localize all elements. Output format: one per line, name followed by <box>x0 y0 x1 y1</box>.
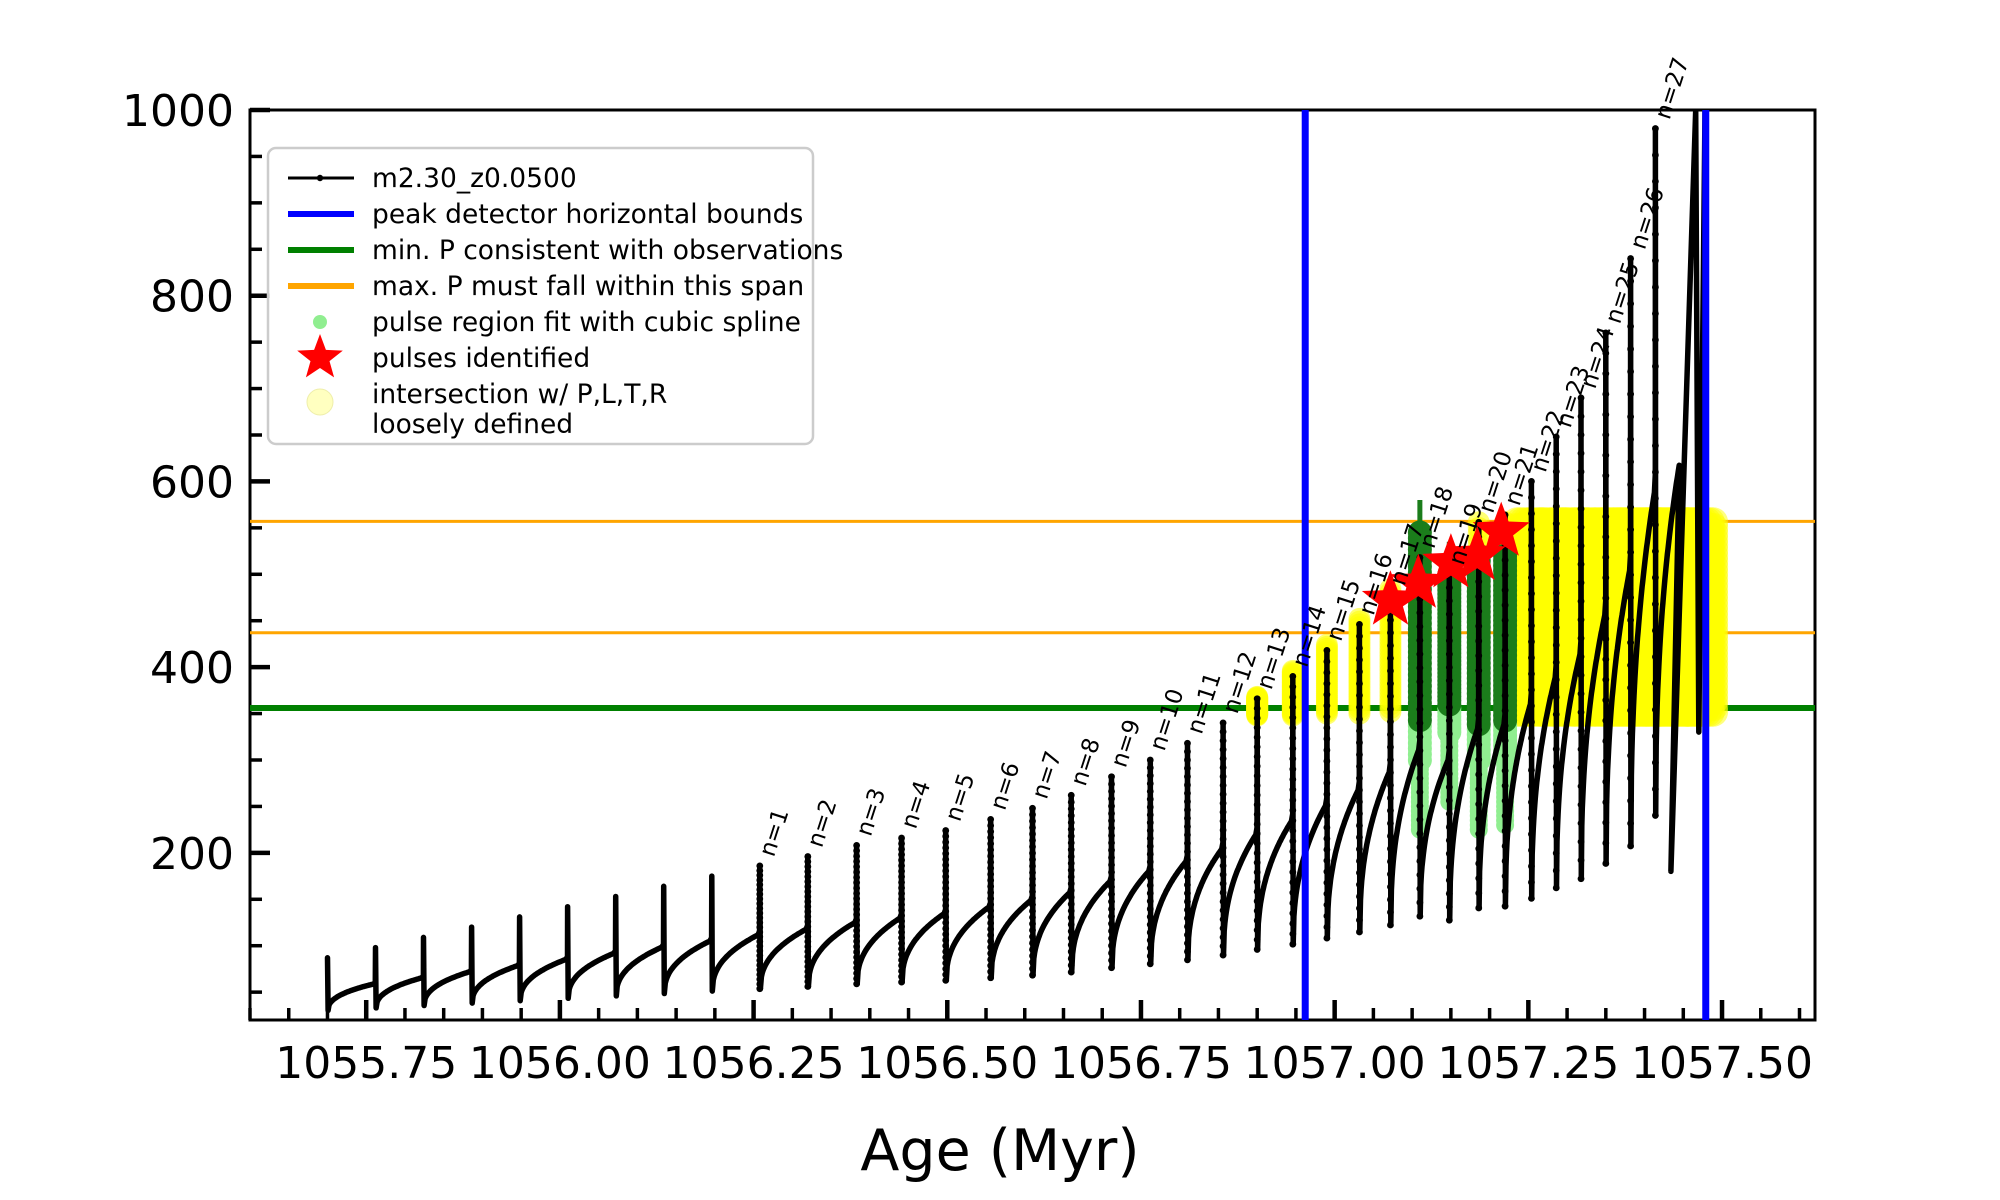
data-point <box>1068 873 1075 880</box>
data-point <box>1387 807 1394 814</box>
data-point <box>1578 764 1585 771</box>
data-point <box>1254 907 1261 914</box>
data-point <box>1324 846 1331 853</box>
data-point <box>1627 346 1634 353</box>
data-point <box>1652 654 1659 661</box>
data-point <box>1068 955 1075 962</box>
data-point <box>1502 707 1509 714</box>
data-point <box>1220 782 1227 789</box>
data-point <box>1627 707 1634 714</box>
data-point <box>1108 891 1115 898</box>
data-point <box>1475 786 1482 793</box>
data-point <box>987 822 994 829</box>
data-point <box>1068 894 1075 901</box>
data-point <box>1220 845 1227 852</box>
pulse-index-label: n=1 <box>755 806 795 860</box>
data-point <box>1220 818 1227 825</box>
data-point <box>987 871 994 878</box>
data-point <box>1553 485 1560 492</box>
data-point <box>1553 503 1560 510</box>
data-point <box>853 842 860 849</box>
data-point <box>1627 752 1634 759</box>
data-point <box>987 938 994 945</box>
data-point <box>1254 734 1261 741</box>
data-point <box>1289 725 1296 732</box>
data-point <box>1029 888 1036 895</box>
data-point <box>987 846 994 853</box>
data-point <box>1502 632 1509 639</box>
data-point <box>1254 859 1261 866</box>
data-point <box>987 932 994 939</box>
legend-item-label: max. P must fall within this span <box>372 271 804 302</box>
data-point <box>1184 832 1191 839</box>
data-point <box>1029 908 1036 915</box>
data-point <box>1446 704 1453 711</box>
data-point <box>1627 639 1634 646</box>
data-point <box>1578 746 1585 753</box>
y-tick-label: 400 <box>150 643 234 694</box>
data-point <box>1147 945 1154 952</box>
data-point <box>1068 962 1075 969</box>
data-point <box>1289 786 1296 793</box>
data-point <box>1416 775 1423 782</box>
data-point <box>1147 921 1154 928</box>
data-point <box>1387 668 1394 675</box>
data-point <box>1356 905 1363 912</box>
data-point <box>1324 879 1331 886</box>
data-point <box>1446 890 1453 897</box>
data-point <box>1289 807 1296 814</box>
data-point <box>1528 879 1535 886</box>
data-point <box>1184 898 1191 905</box>
data-point <box>1553 538 1560 545</box>
data-point <box>1220 934 1227 941</box>
data-point <box>1578 561 1585 568</box>
data-point <box>1184 840 1191 847</box>
data-point <box>1029 946 1036 953</box>
data-point <box>1602 411 1609 418</box>
data-point <box>1446 584 1453 591</box>
data-point <box>1184 790 1191 797</box>
data-point <box>987 944 994 951</box>
data-point <box>1578 598 1585 605</box>
data-point <box>1108 884 1115 891</box>
data-point <box>1184 932 1191 939</box>
data-point <box>1416 816 1423 823</box>
data-point <box>1108 832 1115 839</box>
data-point <box>1220 871 1227 878</box>
data-point <box>1446 877 1453 884</box>
data-point <box>1356 633 1363 640</box>
data-point <box>1108 781 1115 788</box>
data-point <box>1387 795 1394 802</box>
data-point <box>1446 597 1453 604</box>
data-point <box>1220 952 1227 959</box>
data-point <box>1446 731 1453 738</box>
data-point <box>1184 890 1191 897</box>
data-point <box>1289 714 1296 721</box>
data-point <box>1068 914 1075 921</box>
data-point <box>1602 819 1609 826</box>
data-point <box>1068 935 1075 942</box>
data-point <box>1446 837 1453 844</box>
data-point <box>1147 796 1154 803</box>
data-point <box>1528 622 1535 629</box>
data-point <box>1289 879 1296 886</box>
data-point <box>1356 846 1363 853</box>
data-point <box>1220 943 1227 950</box>
data-point <box>1068 867 1075 874</box>
data-point <box>1502 692 1509 699</box>
data-point <box>1578 616 1585 623</box>
data-point <box>1387 680 1394 687</box>
data-point <box>1220 916 1227 923</box>
data-point <box>1289 920 1296 927</box>
data-point <box>942 827 949 834</box>
data-point <box>1147 913 1154 920</box>
data-point <box>1108 898 1115 905</box>
data-point <box>1068 846 1075 853</box>
pulse-index-label: n=26 <box>1626 184 1670 252</box>
legend[interactable]: m2.30_z0.0500peak detector horizontal bo… <box>268 148 843 444</box>
data-point <box>1553 590 1560 597</box>
data-point <box>1627 571 1634 578</box>
data-point <box>1652 627 1659 634</box>
data-point <box>1446 850 1453 857</box>
data-point <box>1324 747 1331 754</box>
data-point <box>1068 942 1075 949</box>
data-point <box>1578 468 1585 475</box>
data-point <box>1553 607 1560 614</box>
data-point <box>1147 874 1154 881</box>
data-point <box>1029 901 1036 908</box>
data-point <box>1387 655 1394 662</box>
x-tick-label: 1056.75 <box>1050 1038 1232 1089</box>
data-point <box>1220 791 1227 798</box>
data-point <box>1356 716 1363 723</box>
data-point <box>1324 924 1331 931</box>
data-point <box>1578 450 1585 457</box>
data-point <box>1324 769 1331 776</box>
data-point <box>1602 431 1609 438</box>
data-point <box>1289 766 1296 773</box>
data-point <box>1553 468 1560 475</box>
data-point <box>1528 847 1535 854</box>
data-point <box>1147 843 1154 850</box>
data-point <box>1324 724 1331 731</box>
data-point <box>1387 909 1394 916</box>
data-point <box>1184 757 1191 764</box>
data-point <box>987 968 994 975</box>
data-point <box>1108 817 1115 824</box>
data-point <box>1289 704 1296 711</box>
data-point <box>1254 840 1261 847</box>
data-point <box>1416 747 1423 754</box>
y-tick-label: 600 <box>150 457 234 508</box>
data-point <box>1475 623 1482 630</box>
data-point <box>1387 756 1394 763</box>
data-point <box>1254 811 1261 818</box>
data-point <box>1652 310 1659 317</box>
data-point <box>1627 843 1634 850</box>
data-point <box>1578 709 1585 716</box>
y-tick-label: 800 <box>150 272 234 323</box>
data-point <box>1029 920 1036 927</box>
data-point <box>1475 697 1482 704</box>
data-point <box>1627 459 1634 466</box>
data-point <box>1446 770 1453 777</box>
data-point <box>1602 758 1609 765</box>
data-point <box>1254 917 1261 924</box>
data-point <box>1289 941 1296 948</box>
data-point <box>1528 895 1535 902</box>
data-point <box>1068 799 1075 806</box>
data-point <box>1108 839 1115 846</box>
data-point <box>1553 520 1560 527</box>
data-point <box>1502 752 1509 759</box>
data-point <box>1324 647 1331 654</box>
data-point <box>1416 734 1423 741</box>
data-point <box>1416 720 1423 727</box>
data-point <box>1553 746 1560 753</box>
data-point <box>1068 805 1075 812</box>
data-point <box>1220 880 1227 887</box>
data-point <box>1578 690 1585 697</box>
data-point <box>1254 744 1261 751</box>
pulse-index-label: n=4 <box>897 778 937 832</box>
data-point <box>1029 831 1036 838</box>
data-point <box>1147 851 1154 858</box>
data-point <box>1220 889 1227 896</box>
y-tick-label: 200 <box>150 829 234 880</box>
data-point <box>1446 784 1453 791</box>
data-point <box>1502 662 1509 669</box>
data-point <box>1475 712 1482 719</box>
data-point <box>1652 786 1659 793</box>
data-point <box>1578 653 1585 660</box>
data-point <box>1446 651 1453 658</box>
data-point <box>1528 783 1535 790</box>
data-point <box>1602 452 1609 459</box>
data-point <box>1254 927 1261 934</box>
data-point <box>1652 812 1659 819</box>
legend-item-label: peak detector horizontal bounds <box>372 199 803 230</box>
data-point <box>1068 969 1075 976</box>
legend-item-label: intersection w/ P,L,T,R <box>372 379 667 410</box>
data-point <box>1553 884 1560 891</box>
data-point <box>1528 703 1535 710</box>
data-point <box>1602 676 1609 683</box>
data-point <box>1068 901 1075 908</box>
data-point <box>1387 896 1394 903</box>
data-point <box>1108 810 1115 817</box>
x-tick-label: 1057.00 <box>1244 1038 1426 1089</box>
x-tick-label: 1056.50 <box>856 1038 1038 1089</box>
data-point <box>1220 737 1227 744</box>
data-point <box>1356 822 1363 829</box>
data-point <box>1553 659 1560 666</box>
data-point <box>1324 868 1331 875</box>
data-point <box>1108 803 1115 810</box>
data-point <box>1029 863 1036 870</box>
data-point <box>1602 595 1609 602</box>
data-point <box>1446 717 1453 724</box>
data-point <box>1416 761 1423 768</box>
data-point <box>1356 704 1363 711</box>
data-point <box>1108 847 1115 854</box>
data-point <box>1446 824 1453 831</box>
data-point <box>1108 773 1115 780</box>
data-point <box>1475 890 1482 897</box>
data-point <box>1416 637 1423 644</box>
data-point <box>1387 731 1394 738</box>
data-point <box>1029 914 1036 921</box>
legend-item-label: pulse region fit with cubic spline <box>372 307 801 338</box>
data-point <box>1627 481 1634 488</box>
data-point <box>1627 820 1634 827</box>
data-point <box>1289 828 1296 835</box>
data-point <box>1652 337 1659 344</box>
data-point <box>987 895 994 902</box>
data-point <box>1029 818 1036 825</box>
data-point <box>1147 804 1154 811</box>
data-point <box>1108 950 1115 957</box>
data-point <box>1578 524 1585 531</box>
data-point <box>1578 431 1585 438</box>
data-point <box>1324 736 1331 743</box>
data-point <box>1502 828 1509 835</box>
x-tick-label: 1055.75 <box>275 1038 457 1089</box>
data-point <box>1068 853 1075 860</box>
data-point <box>1528 574 1535 581</box>
data-point <box>1108 876 1115 883</box>
legend-item-label: m2.30_z0.0500 <box>372 163 577 194</box>
data-point <box>1502 858 1509 865</box>
data-point <box>1147 882 1154 889</box>
pulse-index-label: n=10 <box>1145 686 1189 754</box>
data-point <box>1324 658 1331 665</box>
data-point <box>1627 662 1634 669</box>
data-point <box>1184 865 1191 872</box>
data-point <box>1220 773 1227 780</box>
data-point <box>1029 972 1036 979</box>
data-point <box>1220 719 1227 726</box>
data-point <box>1627 594 1634 601</box>
data-point <box>1578 505 1585 512</box>
data-point <box>1324 802 1331 809</box>
data-point <box>1528 510 1535 517</box>
data-point <box>1627 775 1634 782</box>
data-point <box>1652 548 1659 555</box>
data-point <box>1108 869 1115 876</box>
data-point <box>1502 647 1509 654</box>
data-point <box>1602 636 1609 643</box>
data-point <box>1578 838 1585 845</box>
data-point <box>1627 368 1634 375</box>
data-point <box>1108 861 1115 868</box>
data-point <box>1387 820 1394 827</box>
data-point <box>1220 898 1227 905</box>
data-point <box>1147 859 1154 866</box>
data-point <box>1387 617 1394 624</box>
data-point <box>1289 735 1296 742</box>
data-point <box>1652 574 1659 581</box>
data-point <box>1446 797 1453 804</box>
data-point <box>1254 936 1261 943</box>
data-point <box>1108 957 1115 964</box>
x-tick-label: 1057.50 <box>1631 1038 1813 1089</box>
data-point <box>1528 638 1535 645</box>
data-point <box>1602 656 1609 663</box>
data-point <box>1528 863 1535 870</box>
data-point <box>1387 782 1394 789</box>
data-point <box>1578 542 1585 549</box>
data-point <box>1289 683 1296 690</box>
data-point <box>1220 827 1227 834</box>
data-point <box>1068 833 1075 840</box>
data-point <box>1108 928 1115 935</box>
data-point <box>1416 899 1423 906</box>
data-point <box>1289 900 1296 907</box>
data-point <box>1416 802 1423 809</box>
data-point <box>1068 880 1075 887</box>
data-point <box>1289 910 1296 917</box>
data-point <box>1475 638 1482 645</box>
data-point <box>804 853 811 860</box>
data-point <box>1356 917 1363 924</box>
data-point <box>1416 885 1423 892</box>
data-point <box>1652 416 1659 423</box>
data-point <box>1289 848 1296 855</box>
data-point <box>1446 903 1453 910</box>
data-point <box>1108 920 1115 927</box>
data-point <box>1324 935 1331 942</box>
data-point <box>1254 705 1261 712</box>
data-point <box>1502 782 1509 789</box>
data-point <box>1108 906 1115 913</box>
data-point <box>1627 549 1634 556</box>
data-point <box>1289 797 1296 804</box>
data-point <box>1602 513 1609 520</box>
data-point <box>1528 751 1535 758</box>
data-point <box>1502 903 1509 910</box>
data-point <box>1324 758 1331 765</box>
data-point <box>1627 255 1634 262</box>
data-point <box>1289 817 1296 824</box>
data-point <box>1356 810 1363 817</box>
data-point <box>1475 578 1482 585</box>
data-point <box>1289 838 1296 845</box>
data-point <box>1387 769 1394 776</box>
y-axis-ticks: 2004006008001000 <box>122 86 270 992</box>
data-point <box>1029 850 1036 857</box>
data-point <box>1184 923 1191 930</box>
data-point <box>1446 611 1453 618</box>
data-point <box>1475 860 1482 867</box>
data-point <box>1220 836 1227 843</box>
legend-dot-swatch <box>317 175 323 181</box>
data-point <box>1553 832 1560 839</box>
data-point <box>1147 788 1154 795</box>
data-point <box>987 956 994 963</box>
data-point <box>987 907 994 914</box>
data-point <box>1475 875 1482 882</box>
data-point <box>1324 813 1331 820</box>
data-point <box>1068 792 1075 799</box>
x-tick-label: 1056.00 <box>469 1038 651 1089</box>
data-point <box>1553 763 1560 770</box>
data-point <box>1528 606 1535 613</box>
